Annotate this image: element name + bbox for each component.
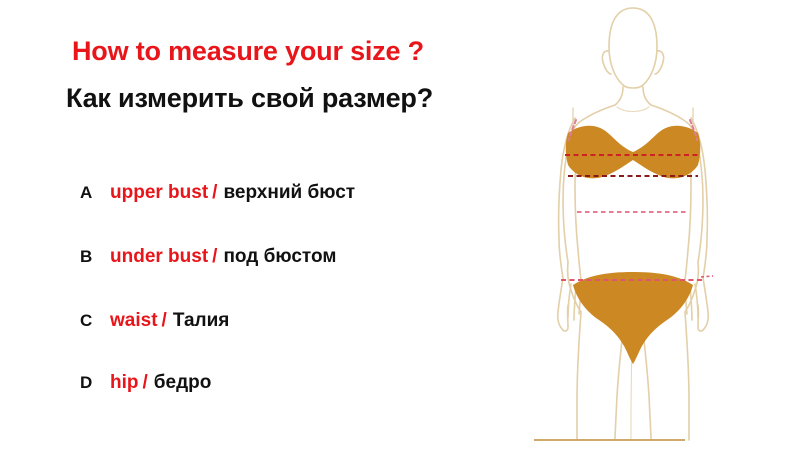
body-figure-panel: A B C D: [505, 0, 800, 458]
row-letter-a: A: [80, 183, 110, 203]
text-panel: How to measure your size ? Как измерить …: [0, 0, 510, 458]
row-translation-c: Талия: [173, 310, 230, 332]
row-term-a: upper bust: [110, 182, 208, 204]
row-separator-d: /: [143, 372, 148, 394]
row-letter-d: D: [80, 373, 110, 393]
row-translation-d: бедро: [154, 372, 212, 394]
measurement-row-a: A upper bust / верхний бюст: [80, 182, 355, 208]
page-title-russian: Как измерить свой размер?: [66, 83, 433, 114]
row-translation-b: под бюстом: [223, 246, 336, 268]
row-separator-c: /: [162, 310, 167, 332]
body-measurement-diagram-icon: [505, 0, 800, 458]
row-separator-a: /: [212, 182, 217, 204]
measurement-row-d: D hip / бедро: [80, 372, 211, 398]
row-term-b: under bust: [110, 246, 208, 268]
row-term-d: hip: [110, 372, 139, 394]
size-guide-page: How to measure your size ? Как измерить …: [0, 0, 800, 458]
bikini-top-shape: [566, 126, 701, 179]
page-title-english: How to measure your size ?: [72, 36, 424, 67]
measurement-row-c: C waist / Талия: [80, 310, 229, 336]
row-separator-b: /: [212, 246, 217, 268]
row-term-c: waist: [110, 310, 158, 332]
measurement-row-b: B under bust / под бюстом: [80, 246, 336, 272]
measure-tick-hip-right: [701, 276, 713, 277]
row-letter-b: B: [80, 247, 110, 267]
bikini-bottom-shape: [573, 272, 693, 364]
row-translation-a: верхний бюст: [223, 182, 355, 204]
row-letter-c: C: [80, 311, 110, 331]
